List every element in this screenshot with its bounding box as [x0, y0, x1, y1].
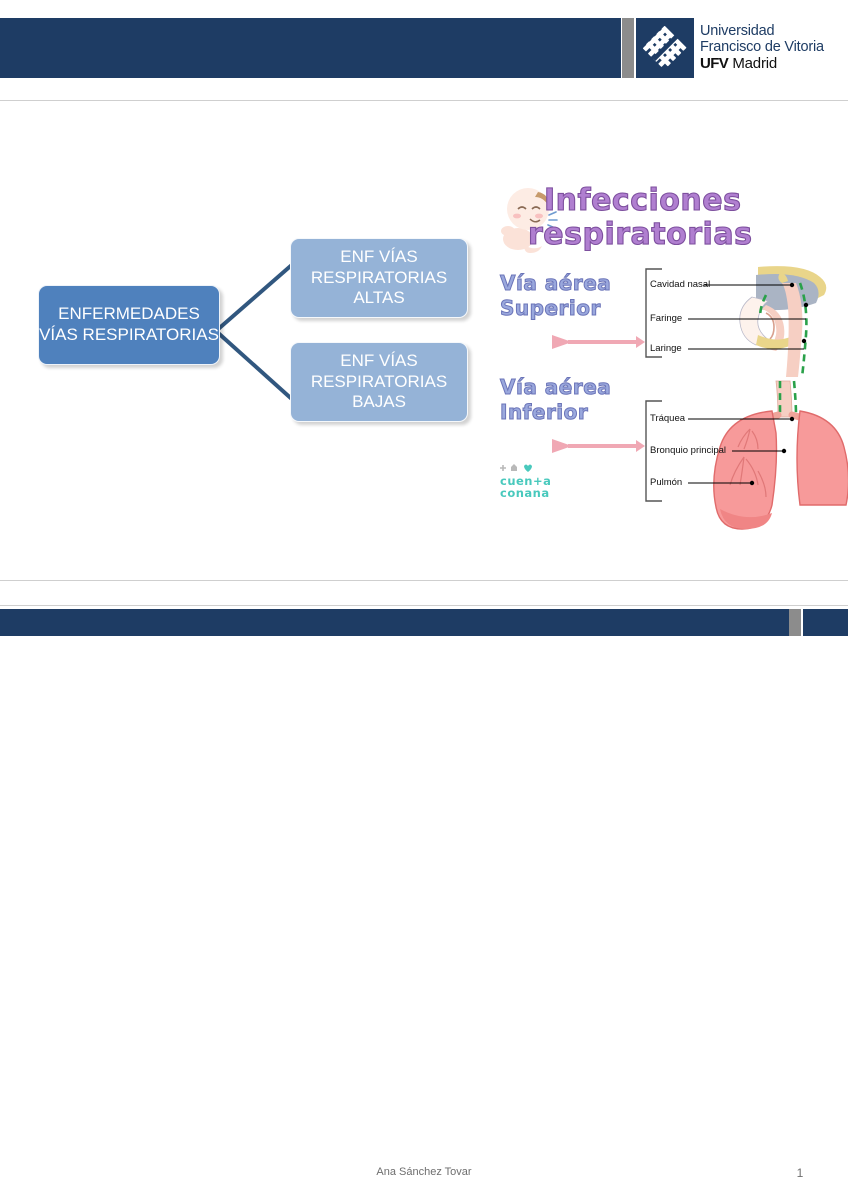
- illustration-title-line-2: respiratorias: [528, 217, 752, 252]
- flowchart-node-upper-airway[interactable]: ENF VÍAS RESPIRATORIAS ALTAS: [290, 238, 468, 318]
- footer-navy-bar-left: [0, 609, 789, 636]
- footer-bottom-rule: [0, 605, 848, 606]
- lower-airway-label-line-1: Vía aérea: [500, 375, 611, 400]
- respiratory-diseases-flowchart: ENFERMEDADES VÍAS RESPIRATORIAS ENF VÍAS…: [0, 101, 490, 580]
- ufv-diamond-weave-logo-icon: [643, 26, 687, 70]
- upper-airway-label: Vía aérea Superior: [500, 271, 611, 321]
- header-navy-bar: [0, 18, 621, 78]
- anatomy-label-traquea: Tráquea: [650, 413, 685, 424]
- slide-header: Universidad Francisco de Vitoria UFV Mad…: [0, 0, 848, 100]
- header-gray-divider: [622, 18, 634, 78]
- flowchart-node-lower-airway[interactable]: ENF VÍAS RESPIRATORIAS BAJAS: [290, 342, 468, 422]
- cuenta-conana-credit-logo: cuen+a conana: [500, 463, 572, 499]
- anatomy-label-cavidad-nasal: Cavidad nasal: [650, 279, 710, 290]
- brand-line-2: Francisco de Vitoria: [700, 40, 848, 56]
- anatomy-label-faringe: Faringe: [650, 313, 682, 324]
- brand-line-1: Universidad: [700, 24, 848, 40]
- ufv-wordmark: Universidad Francisco de Vitoria UFV Mad…: [700, 24, 848, 73]
- brand-line-3: UFV Madrid: [700, 56, 848, 72]
- footer-gray-divider: [789, 609, 801, 636]
- brand-city: Madrid: [732, 55, 777, 72]
- anatomy-label-pulmon: Pulmón: [650, 477, 682, 488]
- brand-bold: UFV: [700, 55, 728, 72]
- upper-airway-label-line-1: Vía aérea: [500, 271, 611, 296]
- upper-airway-label-line-2: Superior: [500, 296, 611, 321]
- upper-airway-arrow-icon: [550, 331, 646, 353]
- ufv-logo-box: [636, 18, 694, 78]
- lower-airway-label: Vía aérea Inferior: [500, 375, 611, 425]
- credit-line-2: conana: [500, 487, 572, 499]
- anatomy-label-laringe: Laringe: [650, 343, 682, 354]
- flowchart-node-root[interactable]: ENFERMEDADES VÍAS RESPIRATORIAS: [38, 285, 220, 365]
- anatomy-label-bronquio-principal: Bronquio principal: [650, 445, 726, 456]
- footer-page-number: 1: [786, 1166, 814, 1180]
- lower-airway-label-line-2: Inferior: [500, 400, 611, 425]
- illustration-title-line-1: Infecciones: [544, 183, 741, 218]
- lower-airway-arrow-icon: [550, 435, 646, 457]
- footer-author: Ana Sánchez Tovar: [0, 1166, 848, 1178]
- slide-footer: Ana Sánchez Tovar 1: [0, 581, 848, 605]
- slide-body: ENFERMEDADES VÍAS RESPIRATORIAS ENF VÍAS…: [0, 101, 848, 580]
- respiratory-infections-illustration: Infecciones respiratorias Vía aérea Supe…: [492, 173, 848, 593]
- respiratory-anatomy-diagram: [640, 261, 848, 551]
- footer-navy-bar-right: [803, 609, 848, 636]
